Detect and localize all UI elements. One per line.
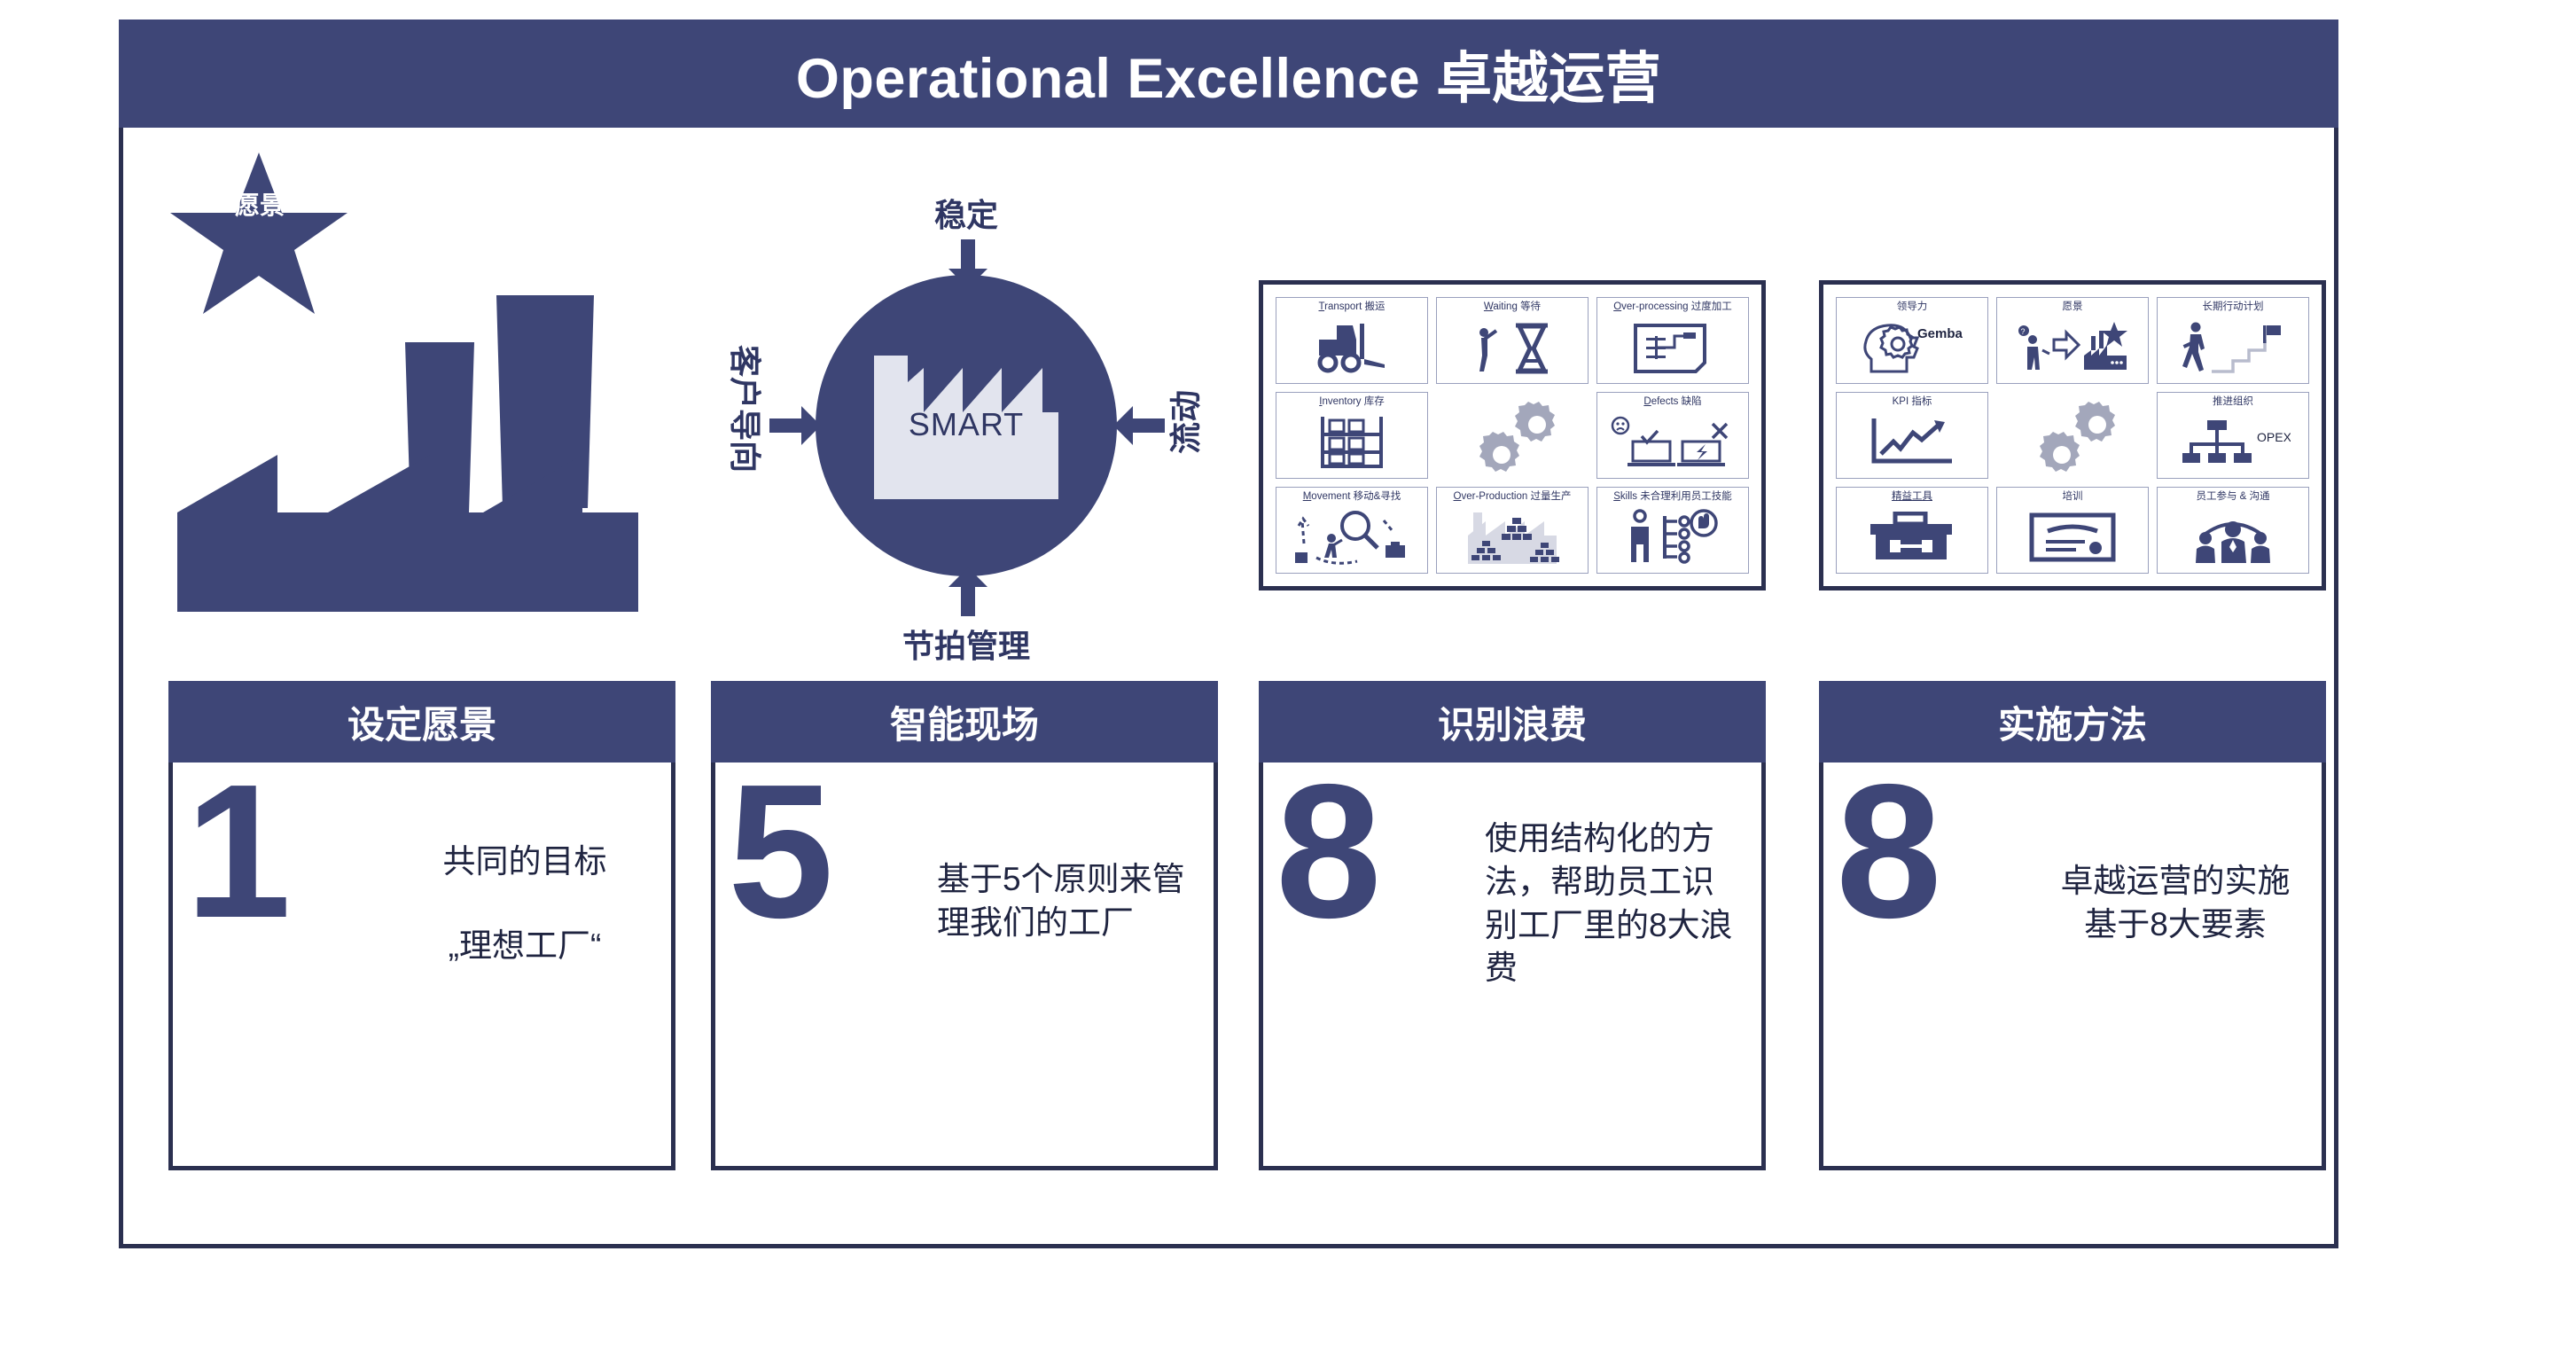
smart-label-top: 稳定 [851, 190, 1081, 236]
card-text: 基于5个原则来管理我们的工厂 [937, 858, 1198, 945]
defect-laptops-icon [1597, 408, 1748, 478]
forklift-icon [1276, 313, 1427, 383]
card-header-label: 智能现场 [890, 695, 1039, 749]
opex-label-lean-tools: 精益工具 [1892, 491, 1932, 503]
gears-icon [1996, 395, 2149, 479]
warehouse-rack-icon [1276, 408, 1427, 478]
waste-cell-waiting[interactable]: Waiting 等待 [1436, 297, 1589, 384]
people-group-icon [2158, 503, 2308, 573]
waste-cell-overprocessing[interactable]: Over-processing 过度加工 [1596, 297, 1749, 384]
waste-cell-overproduction[interactable]: Over-Production 过量生产 [1436, 487, 1589, 574]
card-header-label: 识别浪费 [1438, 695, 1587, 749]
card-body-identify-waste: 8 使用结构化的方法，帮助员工识别工厂里的8大浪费 [1259, 763, 1766, 1170]
card-text: 使用结构化的方法，帮助员工识别工厂里的8大浪费 [1485, 817, 1745, 990]
overproduction-icon [1437, 503, 1588, 573]
card-implementation-method[interactable]: 实施方法 8 卓越运营的实施基于8大要素 [1819, 681, 2326, 1170]
org-chart-icon: OPEX [2158, 408, 2308, 478]
star-label-text: 愿景 [235, 192, 285, 219]
card-body-set-vision: 1 共同的目标 „理想工厂“ [168, 763, 675, 1170]
stairs-flag-icon [2158, 313, 2308, 383]
smart-label-bottom: 节拍管理 [833, 621, 1099, 667]
card-number: 8 [1836, 755, 1942, 946]
slide-root: Operational Excellence 卓越运营 愿景 KPI 布局 VS… [0, 0, 2576, 1353]
opex-cell-training[interactable]: 培训 [1996, 487, 2149, 574]
card-number: 1 [185, 755, 292, 946]
card-smart-shopfloor[interactable]: 智能现场 5 基于5个原则来管理我们的工厂 [711, 681, 1218, 1170]
smart-label-left: 客户导向 [724, 325, 770, 493]
card-identify-waste[interactable]: 识别浪费 8 使用结构化的方法，帮助员工识别工厂里的8大浪费 [1259, 681, 1766, 1170]
smart-label-right: 流动 [1160, 356, 1206, 489]
card-number: 8 [1276, 755, 1382, 946]
arrow-up-icon [948, 567, 987, 616]
title-bar: Operational Excellence 卓越运营 [119, 20, 2338, 128]
opex-label-training: 培训 [2063, 491, 2083, 503]
kpi-chart-icon [1837, 408, 1987, 478]
waste-label-transport: Transport 搬运 [1319, 301, 1386, 313]
certificate-icon [1997, 503, 2148, 573]
card-body-implementation-method: 8 卓越运营的实施基于8大要素 [1819, 763, 2326, 1170]
card-text: 卓越运营的实施基于8大要素 [2045, 860, 2306, 947]
opex-label-kpi: KPI 指标 [1893, 396, 1932, 408]
page-title: Operational Excellence 卓越运营 [796, 34, 1661, 114]
card-text-sub: „理想工厂“ [394, 925, 655, 968]
card-number: 5 [728, 755, 834, 946]
card-body-smart-shopfloor: 5 基于5个原则来管理我们的工厂 [711, 763, 1218, 1170]
waste-label-skills: Skills 未合理利用员工技能 [1613, 491, 1732, 503]
opex-cell-leadership[interactable]: 领导力 Gemba [1836, 297, 1988, 384]
opex-label-vision: 愿景 [2063, 301, 2083, 313]
opex-label-leadership: 领导力 [1897, 301, 1928, 313]
skills-person-icon [1597, 503, 1748, 573]
waste-label-movement: Movement 移动&寻找 [1303, 491, 1401, 503]
smart-center-label: SMART [869, 406, 1064, 443]
card-text: 共同的目标 „理想工厂“ [394, 841, 655, 968]
opex-elements-grid: 领导力 Gemba 愿景 [1836, 297, 2309, 574]
waste-cell-transport[interactable]: Transport 搬运 [1276, 297, 1428, 384]
hourglass-icon [1437, 313, 1588, 383]
toolbox-icon [1837, 503, 1987, 573]
opex-label-organization: 推进组织 [2213, 396, 2253, 408]
gears-icon [1436, 395, 1589, 479]
waste-label-defects: Defects 缺陷 [1643, 396, 1701, 408]
opex-cell-longterm-plan[interactable]: 长期行动计划 [2157, 297, 2309, 384]
opex-label-engagement: 员工参与 & 沟通 [2196, 491, 2269, 503]
vision-factory-block: 愿景 KPI 布局 VSM [168, 149, 665, 645]
arrow-right-icon-left [769, 406, 821, 445]
opex-cell-kpi[interactable]: KPI 指标 [1836, 392, 1988, 479]
opex-cell-engagement[interactable]: 员工参与 & 沟通 [2157, 487, 2309, 574]
gemba-text: Gemba [1917, 326, 1963, 341]
waste-label-inventory: Inventory 库存 [1319, 396, 1385, 408]
star-label: 愿景 [224, 192, 295, 220]
waste-cell-center-gears [1436, 392, 1589, 479]
search-movement-icon [1276, 503, 1427, 573]
vision-factory-star-icon: ? [1997, 313, 2148, 383]
document-process-icon [1597, 313, 1748, 383]
svg-text:?: ? [2021, 327, 2026, 336]
eight-wastes-panel: Transport 搬运 Waiting 等待 [1259, 280, 1766, 590]
card-header-label: 实施方法 [1998, 695, 2147, 749]
opex-cell-center-gears [1996, 392, 2149, 479]
waste-cell-movement[interactable]: Movement 移动&寻找 [1276, 487, 1428, 574]
opex-text: OPEX [2257, 430, 2291, 444]
opex-label-longterm-plan: 长期行动计划 [2203, 301, 2264, 313]
arrow-left-icon-right [1113, 406, 1165, 445]
waste-label-waiting: Waiting 等待 [1484, 301, 1541, 313]
smart-circle-block: 稳定 SMART 客户导向 流动 节拍管理 [709, 177, 1206, 674]
waste-cell-defects[interactable]: Defects 缺陷 [1596, 392, 1749, 479]
card-text-main: 共同的目标 [443, 843, 607, 880]
opex-cell-lean-tools[interactable]: 精益工具 [1836, 487, 1988, 574]
opex-elements-panel: 领导力 Gemba 愿景 [1819, 280, 2326, 590]
card-set-vision[interactable]: 设定愿景 1 共同的目标 „理想工厂“ [168, 681, 675, 1170]
card-header-label: 设定愿景 [347, 695, 496, 749]
opex-cell-organization[interactable]: 推进组织 OPEX [2157, 392, 2309, 479]
factory-icon [173, 246, 656, 614]
waste-cell-skills[interactable]: Skills 未合理利用员工技能 [1596, 487, 1749, 574]
eight-wastes-grid: Transport 搬运 Waiting 等待 [1276, 297, 1749, 574]
waste-label-overprocessing: Over-processing 过度加工 [1613, 301, 1732, 313]
waste-label-overproduction: Over-Production 过量生产 [1454, 491, 1572, 503]
head-gear-gemba-icon: Gemba [1837, 313, 1987, 383]
waste-cell-inventory[interactable]: Inventory 库存 [1276, 392, 1428, 479]
opex-cell-vision[interactable]: 愿景 ? [1996, 297, 2149, 384]
